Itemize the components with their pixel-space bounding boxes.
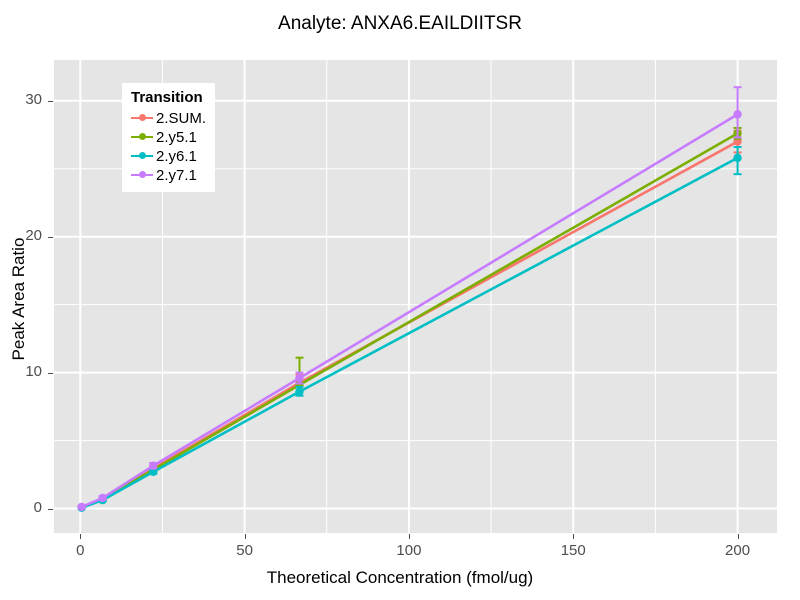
y-tick-mark [48,509,53,510]
x-tick-label: 50 [220,542,270,559]
data-point [149,462,157,470]
data-point [295,387,303,395]
legend-item-label: 2.SUM. [156,110,206,127]
x-tick-mark [409,534,410,539]
legend-item-2y51[interactable]: 2.y5.1 [131,128,206,147]
x-tick-label: 100 [384,542,434,559]
x-tick-label: 0 [55,542,105,559]
y-tick-mark [48,373,53,374]
page-title: Analyte: ANXA6.EAILDIITSR [0,13,800,35]
data-point [98,494,106,502]
legend-key-icon [131,166,153,185]
legend-title: Transition [131,89,206,106]
legend-item-2y61[interactable]: 2.y6.1 [131,147,206,166]
y-tick-label: 30 [8,91,42,108]
data-point [295,374,303,382]
legend-key-icon [131,128,153,147]
legend-key-icon [131,109,153,128]
x-tick-mark [80,534,81,539]
legend-item-2sum[interactable]: 2.SUM. [131,109,206,128]
legend-key-icon [131,147,153,166]
x-tick-mark [738,534,739,539]
chart-container: Analyte: ANXA6.EAILDIITSR 0102030 050100… [0,0,800,600]
x-tick-mark [245,534,246,539]
x-tick-label: 200 [713,542,763,559]
legend: Transition 2.SUM.2.y5.12.y6.12.y7.1 [122,83,215,192]
y-tick-label: 0 [8,499,42,516]
x-tick-mark [573,534,574,539]
legend-item-label: 2.y7.1 [156,167,197,184]
y-tick-mark [48,101,53,102]
legend-item-2y71[interactable]: 2.y7.1 [131,166,206,185]
legend-items: 2.SUM.2.y5.12.y6.12.y7.1 [131,109,206,185]
y-tick-mark [48,237,53,238]
x-tick-label: 150 [548,542,598,559]
legend-item-label: 2.y6.1 [156,148,197,165]
data-point [733,154,741,162]
y-axis-label: Peak Area Ratio [9,189,29,409]
x-axis-label: Theoretical Concentration (fmol/ug) [0,568,800,588]
legend-item-label: 2.y5.1 [156,129,197,146]
data-point [733,110,741,118]
data-point [77,503,85,511]
